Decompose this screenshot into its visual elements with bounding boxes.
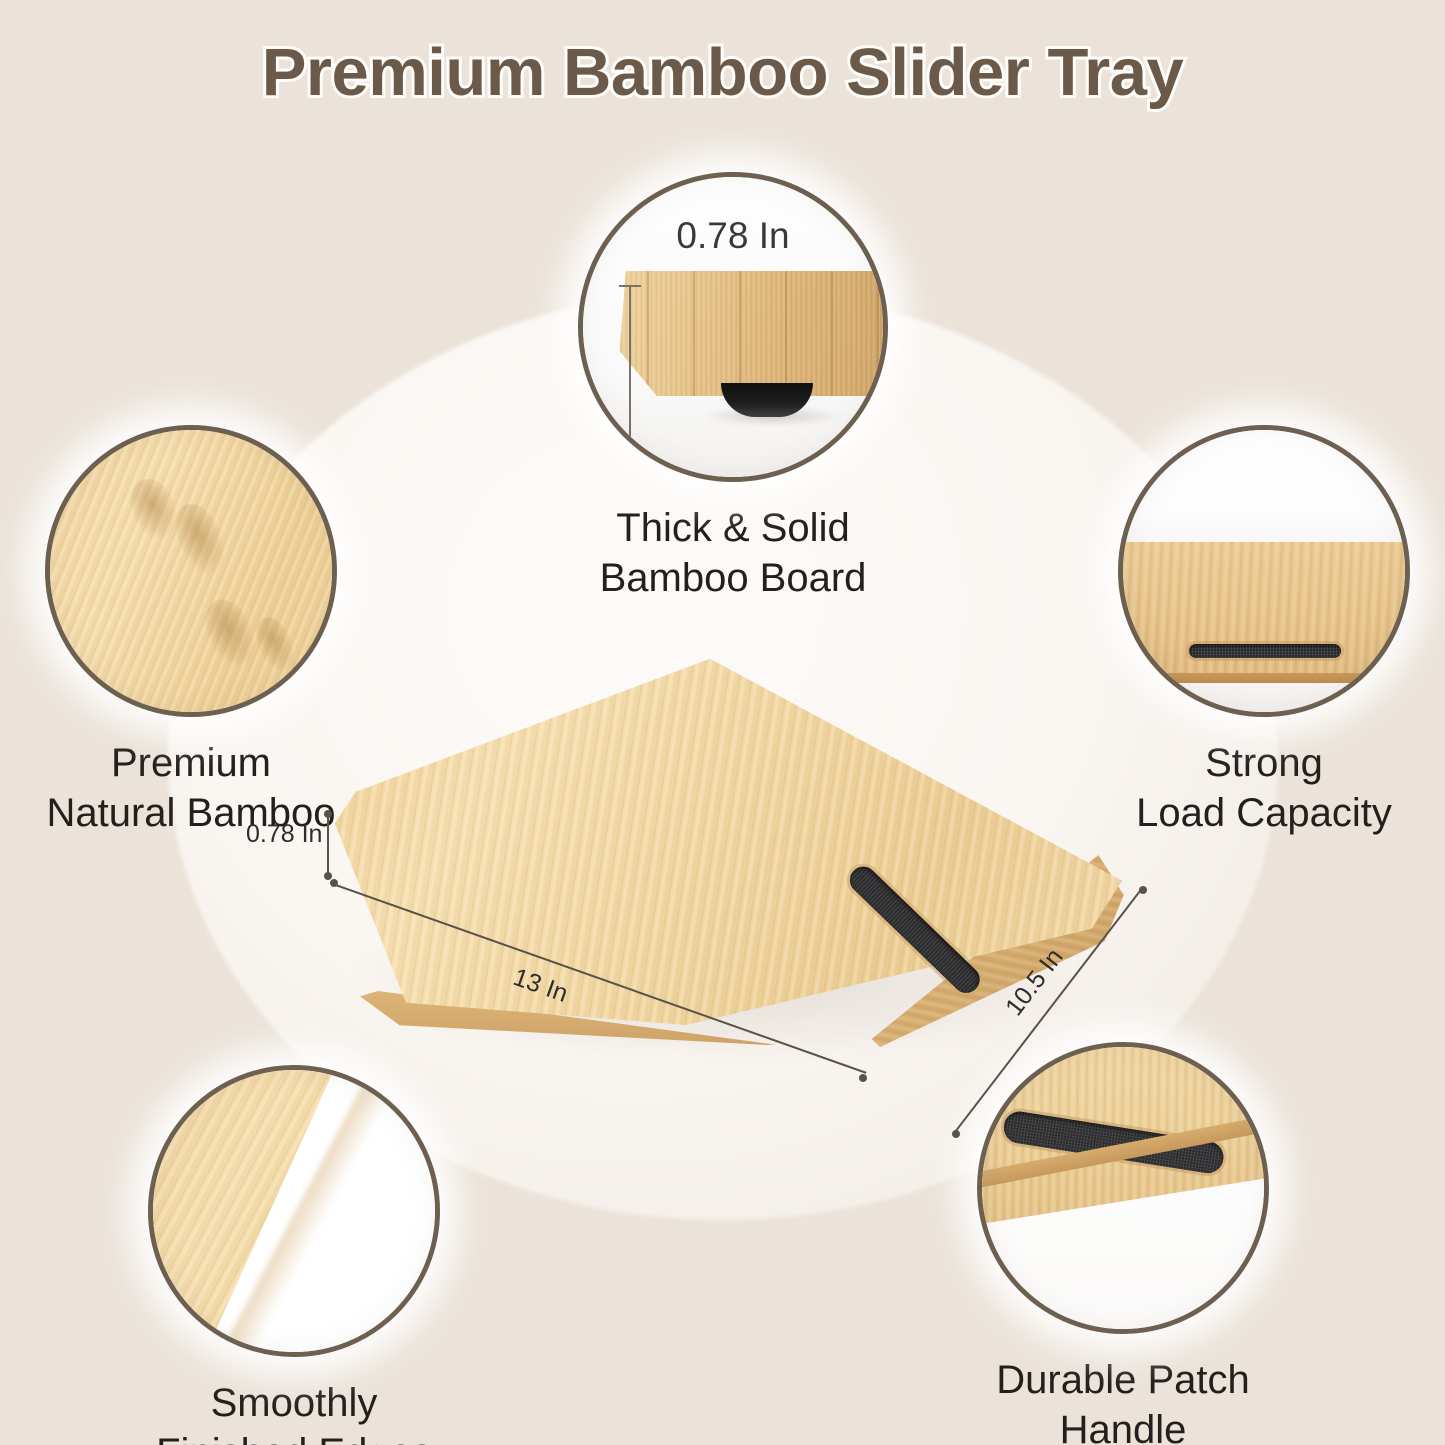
dimension-endpoint-dot bbox=[330, 879, 338, 887]
callout-image-thick-solid-bamboo-board: 0.78 In bbox=[578, 172, 888, 482]
callout-durable-patch-handle: Durable Patch Handle – Easy to Pull bbox=[977, 1042, 1269, 1445]
thickness-dimension-line bbox=[327, 814, 329, 876]
bamboo-grain-surface bbox=[45, 425, 337, 717]
bamboo-edge-profile bbox=[601, 271, 888, 396]
callout-premium-natural-bamboo: Premium Natural Bamboo bbox=[45, 425, 337, 838]
callout-thick-solid-bamboo-board: 0.78 In Thick & Solid Bamboo Board bbox=[578, 172, 888, 603]
handle-slot bbox=[1189, 644, 1341, 658]
dimension-endpoint-dot bbox=[859, 1074, 867, 1082]
infographic-canvas: Premium Bamboo Slider Tray 0.78 In Thick… bbox=[0, 0, 1445, 1445]
table-surface bbox=[1123, 430, 1405, 548]
callout-caption-strong-load-capacity: Strong Load Capacity bbox=[1118, 739, 1410, 838]
callout-caption-smoothly-finished-edges: Smoothly Finished Edges bbox=[148, 1379, 440, 1445]
board-handle-slot-group bbox=[863, 861, 1003, 953]
foot-shadow bbox=[703, 407, 843, 425]
callout-image-premium-natural-bamboo bbox=[45, 425, 337, 717]
dimension-label-thickness: 0.78 In bbox=[246, 820, 322, 849]
dimension-endpoint-dot bbox=[952, 1130, 960, 1138]
callout-smoothly-finished-edges: Smoothly Finished Edges bbox=[148, 1065, 440, 1445]
thickness-dimension-line bbox=[619, 285, 641, 475]
dimension-endpoint-dot bbox=[324, 810, 332, 818]
callout-image-smoothly-finished-edges bbox=[148, 1065, 440, 1357]
table-surface-lower bbox=[1118, 683, 1410, 717]
callout-image-strong-load-capacity bbox=[1118, 425, 1410, 717]
callout-image-durable-patch-handle bbox=[977, 1042, 1269, 1334]
callout-caption-durable-patch-handle: Durable Patch Handle – Easy to Pull bbox=[977, 1356, 1269, 1445]
dimension-endpoint-dot bbox=[1139, 886, 1147, 894]
callout-caption-thick-solid-bamboo-board: Thick & Solid Bamboo Board bbox=[578, 504, 888, 603]
callout-strong-load-capacity: Strong Load Capacity bbox=[1118, 425, 1410, 838]
board-edge bbox=[1118, 673, 1410, 683]
page-title: Premium Bamboo Slider Tray bbox=[0, 34, 1445, 111]
product-image-bamboo-slider-tray bbox=[330, 655, 1130, 1085]
thickness-label-callout: 0.78 In bbox=[583, 215, 883, 257]
